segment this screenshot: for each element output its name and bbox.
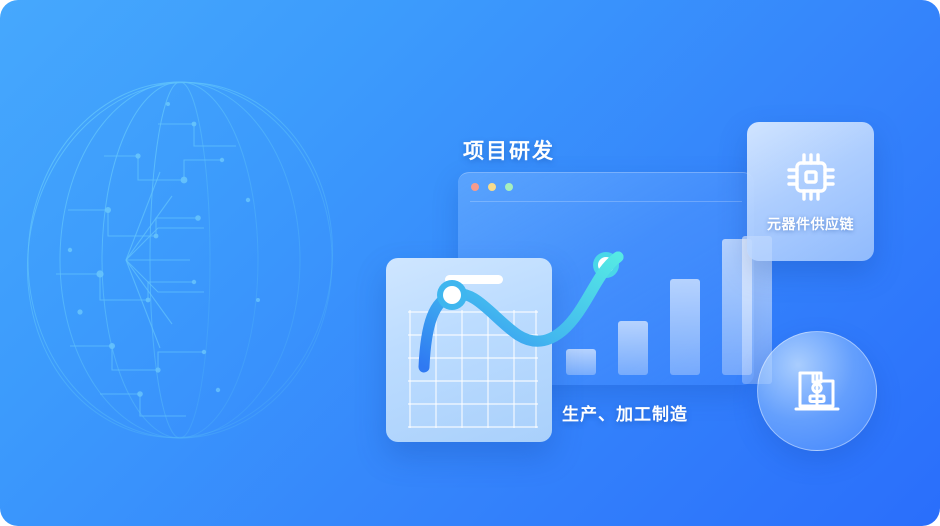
component-supply-chain-card[interactable]: 元器件供应链 xyxy=(747,122,874,261)
page-title: 项目研发 xyxy=(463,135,555,165)
manufacturing-label: 生产、加工制造 xyxy=(562,400,688,425)
banner-canvas: 项目研发 xyxy=(0,0,940,526)
manufacturing-badge[interactable] xyxy=(757,331,877,451)
chip-icon xyxy=(784,150,838,204)
bar-3 xyxy=(670,279,700,375)
manufacturing-machine-icon xyxy=(790,365,844,417)
wireframe-globe xyxy=(8,60,348,460)
growth-curve-overlay xyxy=(390,215,650,395)
chip-card-label: 元器件供应链 xyxy=(767,214,854,234)
curve-marker-left-overlay xyxy=(437,280,467,310)
